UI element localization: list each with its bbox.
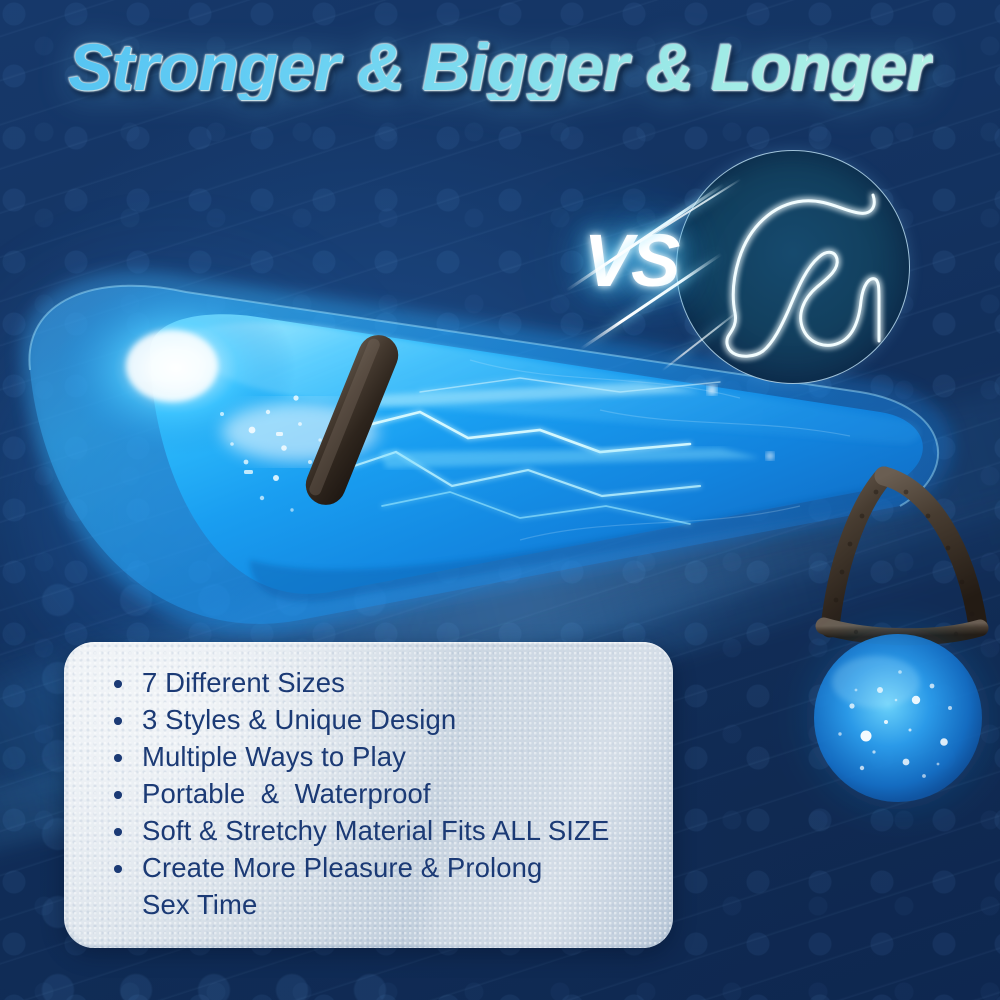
list-item: Portable & Waterproof: [110, 775, 673, 812]
neon-anatomy-outline-icon: [677, 151, 909, 383]
list-item: 7 Different Sizes: [110, 664, 673, 701]
promo-banner: Stronger & Bigger & Longer VS: [0, 0, 1000, 1000]
list-item-continuation: Sex Time: [110, 886, 673, 923]
vs-label: VS: [556, 224, 706, 298]
vs-comparison-group: VS: [556, 150, 936, 400]
list-item: Multiple Ways to Play: [110, 738, 673, 775]
list-item: 3 Styles & Unique Design: [110, 701, 673, 738]
feature-list: 7 Different Sizes 3 Styles & Unique Desi…: [64, 642, 673, 923]
feature-panel: 7 Different Sizes 3 Styles & Unique Desi…: [64, 642, 673, 948]
banner-title-container: Stronger & Bigger & Longer: [0, 34, 1000, 100]
comparison-circle-badge: [676, 150, 910, 384]
banner-title: Stronger & Bigger & Longer: [68, 34, 931, 100]
list-item: Create More Pleasure & Prolong: [110, 849, 673, 886]
list-item: Soft & Stretchy Material Fits ALL SIZE: [110, 812, 673, 849]
